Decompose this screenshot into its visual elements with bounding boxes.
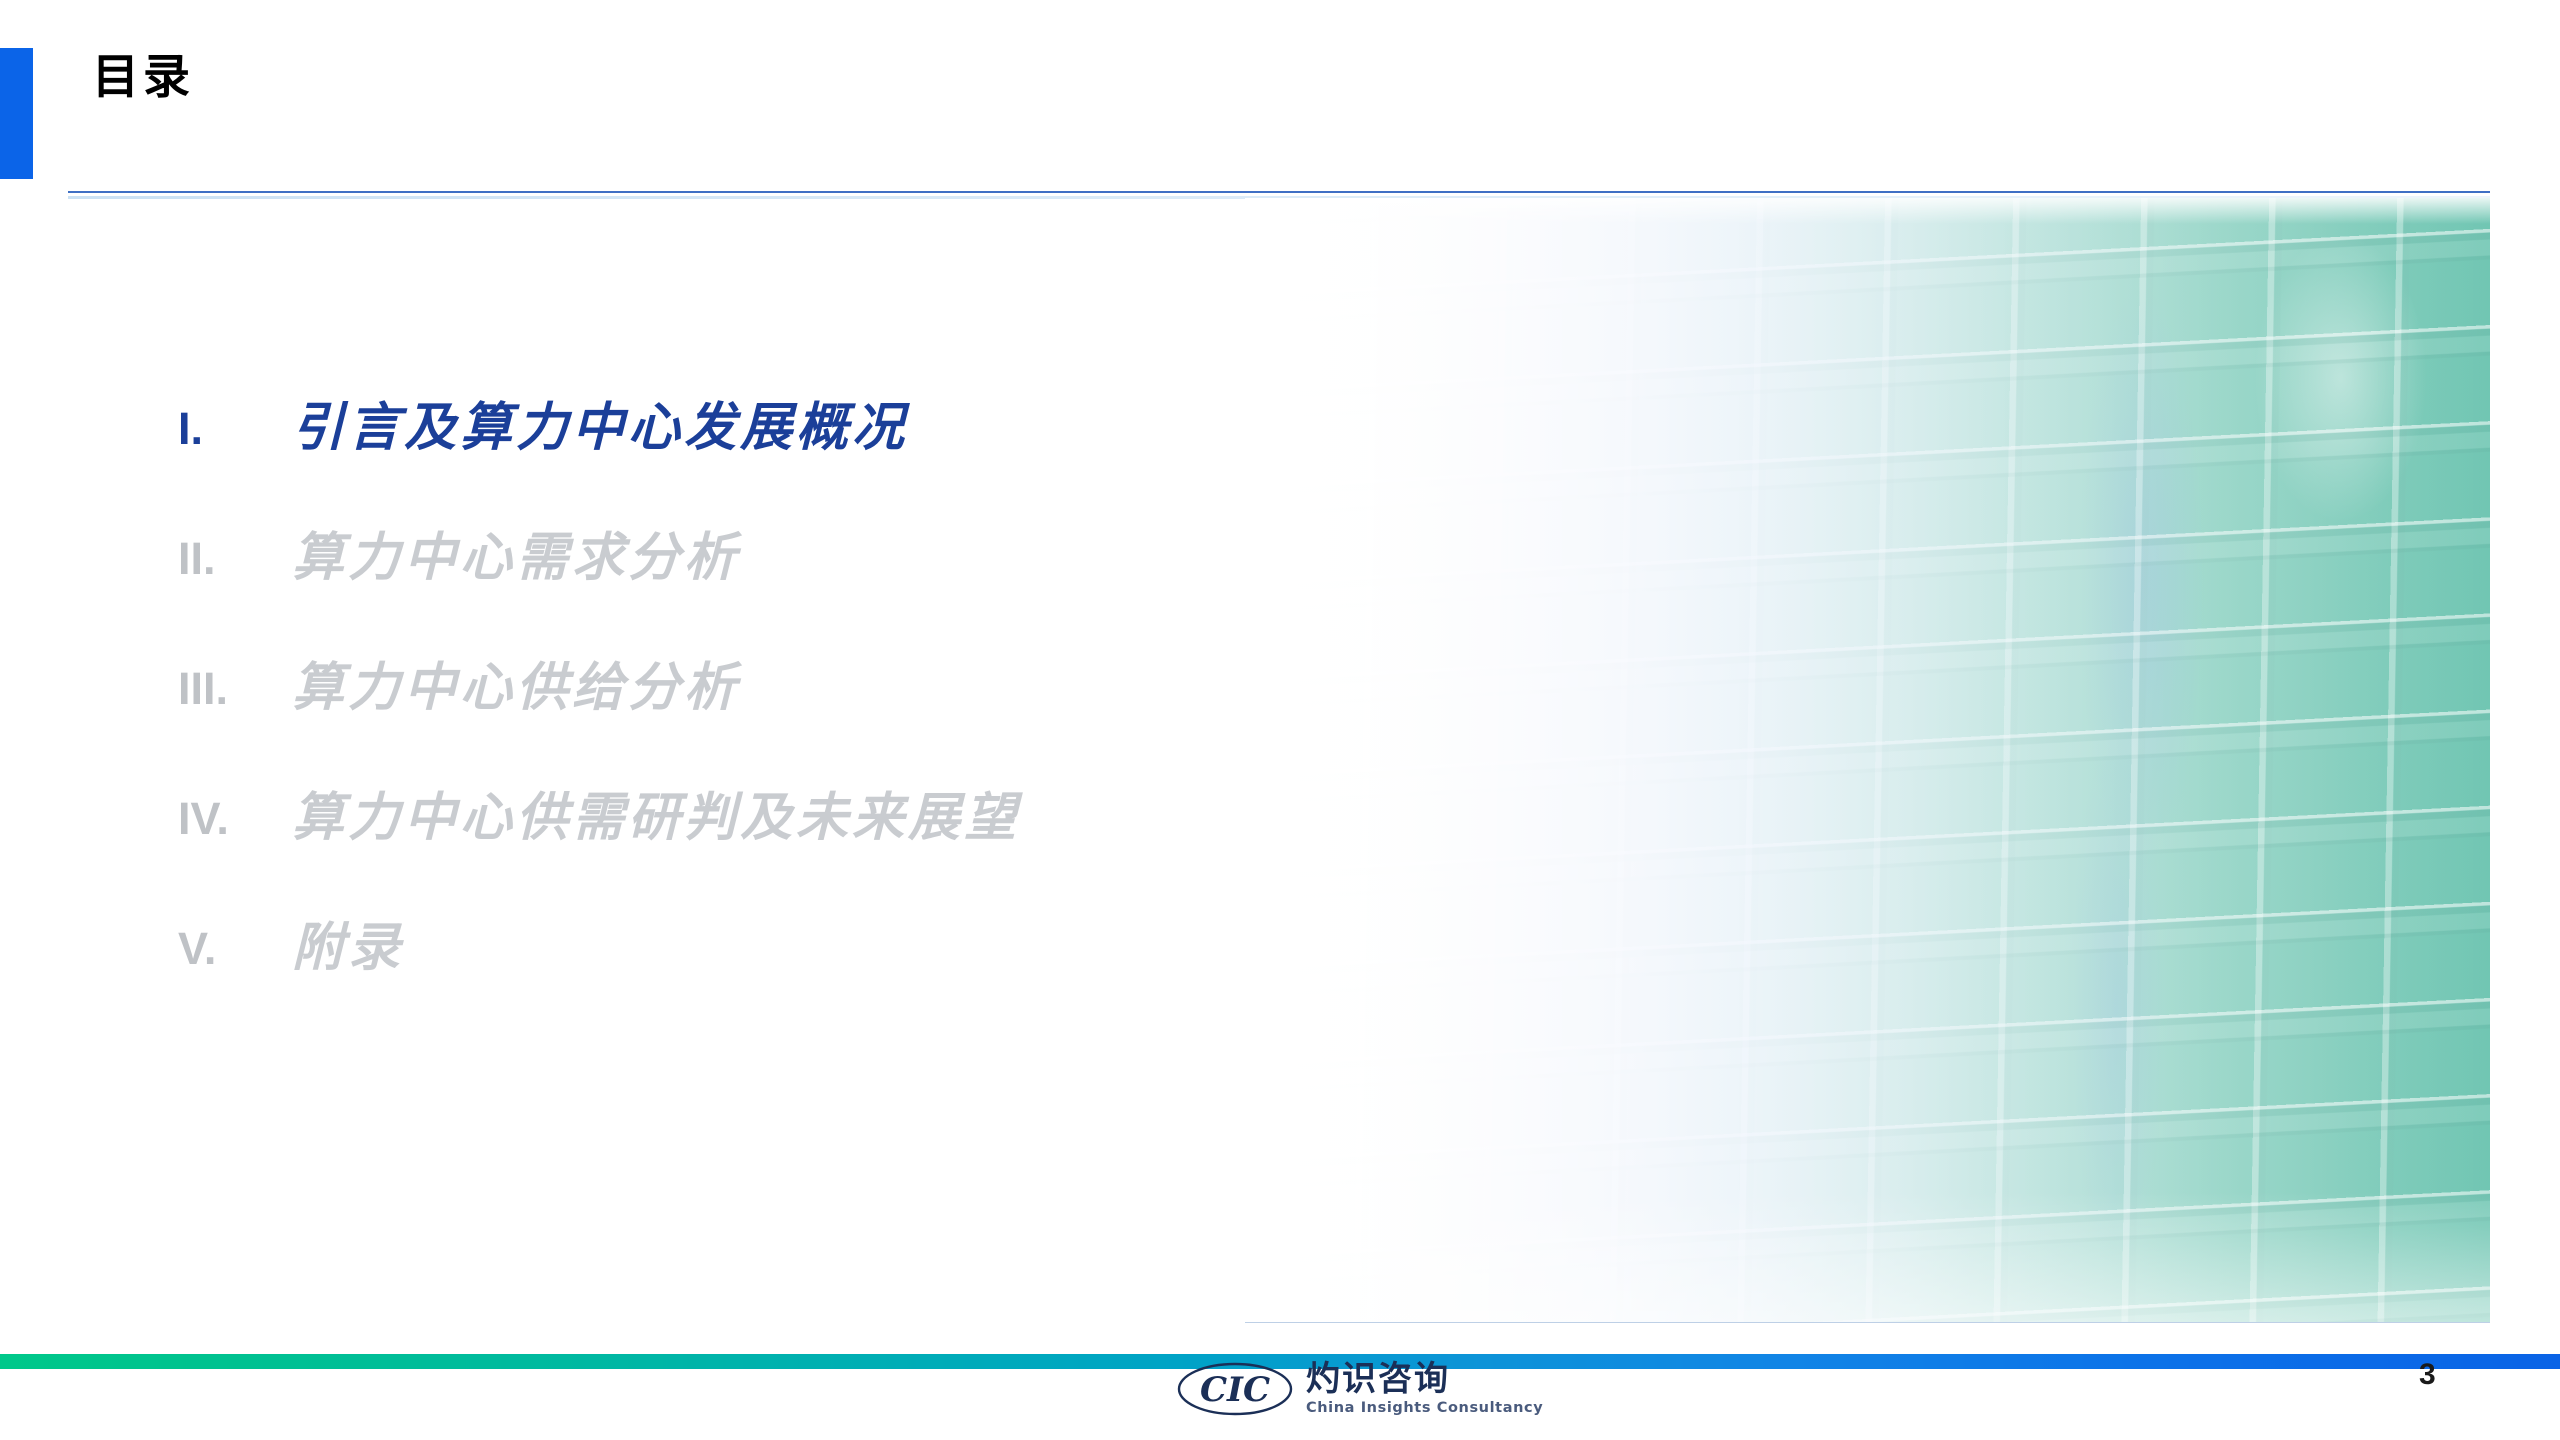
toc-item-5-label: 附录	[292, 918, 404, 978]
title-accent-bar	[0, 48, 33, 179]
logo-wordmark: 灼识咨询 China Insights Consultancy	[1306, 1362, 1543, 1416]
page-number: 3	[2419, 1358, 2436, 1392]
page-title: 目录	[92, 52, 194, 104]
toc-item-3-label: 算力中心供给分析	[292, 658, 740, 718]
background-bottom-fade	[1245, 1192, 2490, 1322]
background-top-fade	[1245, 198, 2490, 224]
toc-item-5[interactable]: V. 附录	[0, 926, 1250, 1056]
toc-item-2[interactable]: II. 算力中心需求分析	[0, 536, 1250, 666]
toc-item-2-numeral: II.	[178, 536, 288, 581]
toc-item-4-label: 算力中心供需研判及未来展望	[292, 788, 1020, 848]
toc-item-5-numeral: V.	[178, 926, 288, 971]
toc-item-3[interactable]: III. 算力中心供给分析	[0, 666, 1250, 796]
toc-item-1[interactable]: I. 引言及算力中心发展概况	[0, 406, 1250, 536]
background-left-fade	[1245, 198, 2490, 1322]
toc-item-4-numeral: IV.	[178, 796, 288, 841]
company-logo: CIC 灼识咨询 China Insights Consultancy	[1176, 1358, 1543, 1420]
toc-item-3-numeral: III.	[178, 666, 288, 711]
toc-item-4[interactable]: IV. 算力中心供需研判及未来展望	[0, 796, 1250, 926]
server-rack-background-image	[1245, 198, 2490, 1322]
title-divider	[68, 191, 2490, 193]
cic-ellipse-icon: CIC	[1176, 1359, 1294, 1419]
slide-canvas: 目录 I. 引言及算力中心发展概况 II. 算力中心需求分析 III. 算力中心…	[0, 0, 2560, 1440]
toc-item-1-numeral: I.	[178, 406, 288, 451]
logo-english-name: China Insights Consultancy	[1306, 1401, 1543, 1416]
logo-chinese-name: 灼识咨询	[1306, 1362, 1543, 1396]
table-of-contents: I. 引言及算力中心发展概况 II. 算力中心需求分析 III. 算力中心供给分…	[0, 406, 1250, 1056]
footer-hairline	[1245, 1322, 2490, 1323]
toc-item-2-label: 算力中心需求分析	[292, 528, 740, 588]
toc-item-1-label: 引言及算力中心发展概况	[292, 398, 908, 458]
svg-text:CIC: CIC	[1200, 1370, 1270, 1410]
